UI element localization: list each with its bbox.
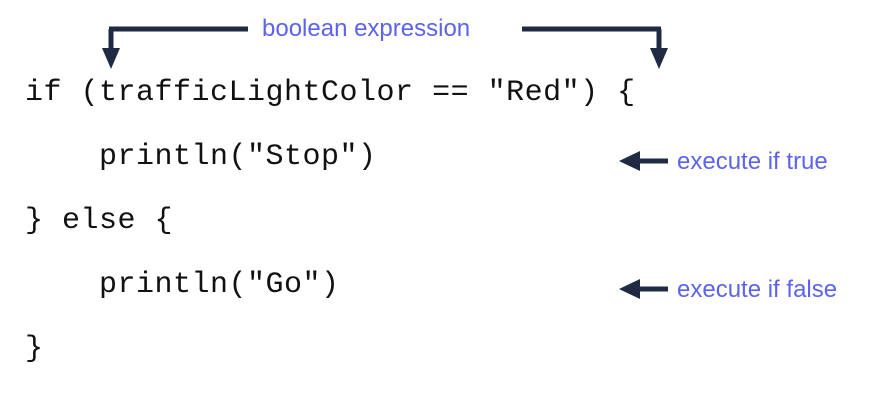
code-line-closing-brace: }	[25, 334, 44, 364]
annotation-boolean-expression-label: boolean expression	[262, 17, 470, 41]
code-diagram-figure: boolean expression execute if true execu…	[0, 0, 891, 405]
annotation-execute-if-true-label: execute if true	[677, 150, 828, 174]
code-line-println-stop: println("Stop")	[25, 142, 377, 172]
boolean-expression-bracket-icon	[0, 0, 891, 405]
code-line-if-condition: if (trafficLightColor == "Red") {	[25, 78, 636, 108]
execute-if-true-arrow-icon	[619, 151, 668, 171]
execute-if-false-arrow-icon	[619, 279, 668, 299]
code-line-else: } else {	[25, 206, 173, 236]
annotation-execute-if-false-label: execute if false	[677, 278, 837, 302]
code-line-println-go: println("Go")	[25, 270, 340, 300]
